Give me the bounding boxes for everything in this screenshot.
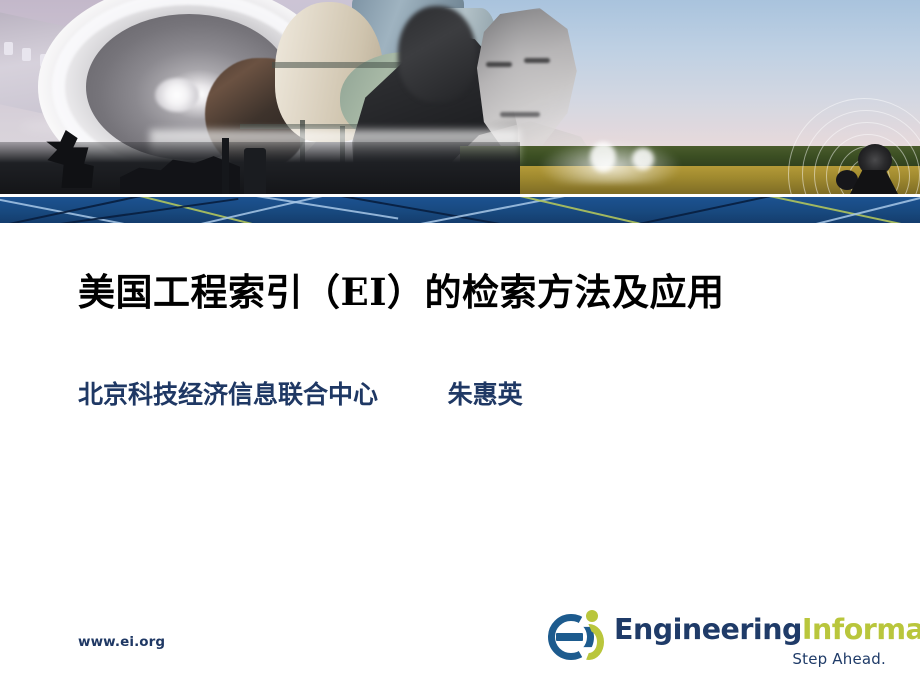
header-banner-image <box>0 0 920 194</box>
band-line <box>60 198 238 223</box>
logo-tagline: Step Ahead. <box>792 650 886 668</box>
engineering-information-logo: EngineeringInformation Step Ahead. <box>548 608 888 680</box>
logo-wordmark: EngineeringInformation <box>614 616 920 645</box>
band-line <box>520 197 725 223</box>
blue-decorative-band <box>0 197 920 223</box>
portrait-eyebrow <box>486 62 512 67</box>
field-light-haze <box>540 140 680 184</box>
logo-word-engineering: Engineering <box>614 613 802 646</box>
presentation-slide: 美国工程索引（EI）的检索方法及应用 北京科技经济信息联合中心 朱惠英 www.… <box>0 0 920 690</box>
silhouette-tank <box>244 148 266 194</box>
band-line <box>800 197 920 223</box>
slide-subtitle: 北京科技经济信息联合中心 朱惠英 <box>78 375 878 411</box>
ei-monogram-icon <box>548 610 610 666</box>
fuselage-window <box>4 42 13 55</box>
silhouette-tower <box>222 138 229 194</box>
footer-website-url[interactable]: www.ei.org <box>78 634 165 650</box>
letter-e-bar-icon <box>556 633 583 641</box>
portrait-eyebrow <box>524 58 550 63</box>
band-line <box>760 197 920 223</box>
logo-word-information: Information <box>802 613 920 646</box>
fuselage-window <box>22 48 31 61</box>
portrait-head-shadow <box>398 6 476 102</box>
turbine-hub-highlight <box>155 78 199 112</box>
letter-i-dot-icon <box>586 610 598 622</box>
portrait-mouth <box>500 112 540 117</box>
slide-title: 美国工程索引（EI）的检索方法及应用 <box>78 262 878 316</box>
